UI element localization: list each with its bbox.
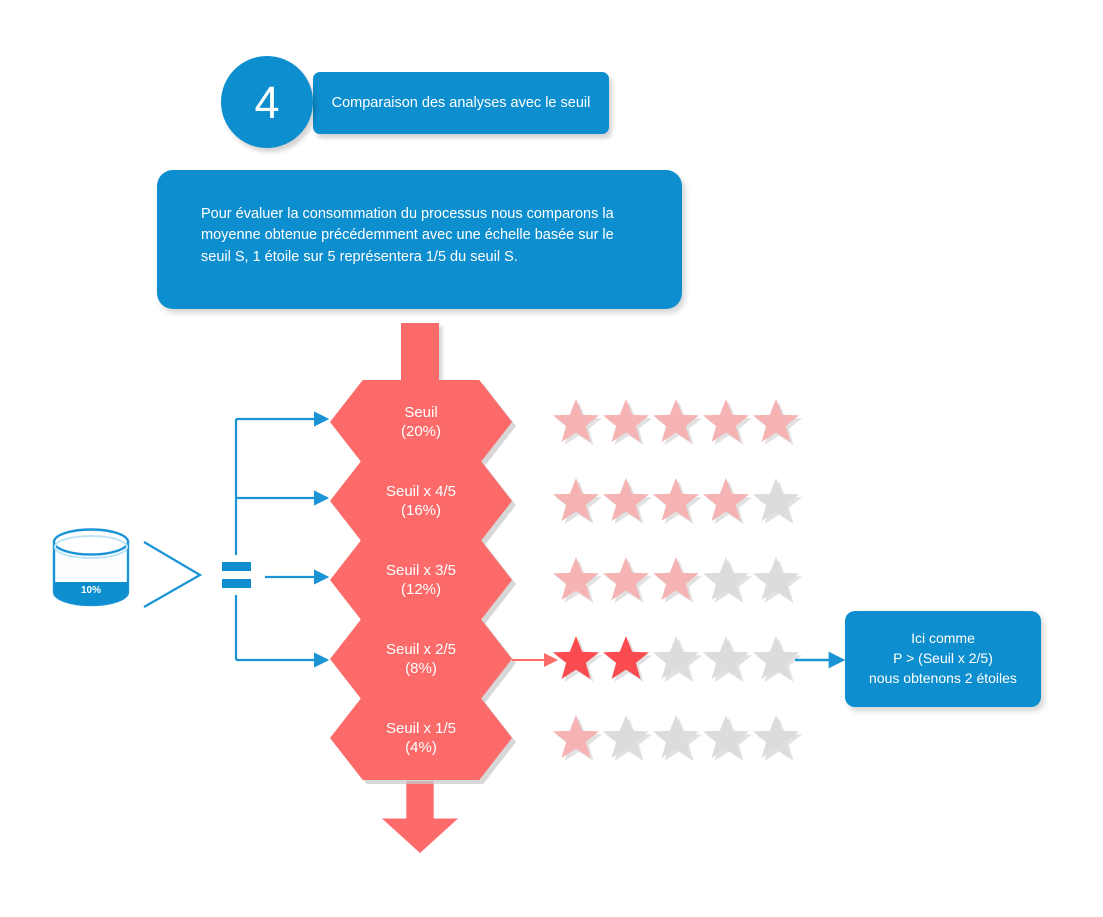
star-empty-icon bbox=[651, 634, 701, 682]
star-filled-icon bbox=[701, 476, 751, 524]
description-text: Pour évaluer la consommation du processu… bbox=[201, 206, 614, 265]
star-row-level-1 bbox=[551, 397, 801, 445]
star-empty-icon bbox=[701, 555, 751, 603]
funnel-level-label: Seuil x 2/5 bbox=[386, 640, 456, 660]
funnel-level-value: (8%) bbox=[405, 659, 437, 679]
star-filled-icon bbox=[601, 476, 651, 524]
funnel-top-stem bbox=[401, 323, 439, 385]
callout-line-3: nous obtenons 2 étoiles bbox=[853, 669, 1033, 689]
result-callout-box: Ici comme P > (Seuil x 2/5) nous obtenon… bbox=[845, 611, 1041, 707]
funnel-bottom-arrow bbox=[382, 781, 458, 853]
star-empty-icon bbox=[751, 555, 801, 603]
equals-sign-bar-bottom bbox=[222, 579, 251, 588]
star-filled-icon bbox=[601, 397, 651, 445]
star-filled-icon bbox=[551, 634, 601, 682]
funnel-level-label: Seuil x 3/5 bbox=[386, 561, 456, 581]
star-row-level-2 bbox=[551, 476, 801, 524]
star-filled-icon bbox=[551, 555, 601, 603]
star-empty-icon bbox=[701, 634, 751, 682]
star-empty-icon bbox=[651, 713, 701, 761]
funnel-level-label: Seuil x 1/5 bbox=[386, 719, 456, 739]
star-filled-icon bbox=[651, 397, 701, 445]
callout-line-2: P > (Seuil x 2/5) bbox=[853, 649, 1033, 669]
star-filled-icon bbox=[551, 397, 601, 445]
step-title-text: Comparaison des analyses avec le seuil bbox=[332, 94, 591, 112]
star-empty-icon bbox=[701, 713, 751, 761]
funnel-level-3[interactable]: Seuil x 3/5(12%) bbox=[330, 538, 512, 622]
star-filled-icon bbox=[551, 713, 601, 761]
star-filled-icon bbox=[601, 555, 651, 603]
funnel-level-4[interactable]: Seuil x 2/5(8%) bbox=[330, 617, 512, 701]
star-filled-icon bbox=[601, 634, 651, 682]
cylinder-value-label: 10% bbox=[50, 585, 132, 596]
callout-line-1: Ici comme bbox=[853, 629, 1033, 649]
funnel-level-5[interactable]: Seuil x 1/5(4%) bbox=[330, 696, 512, 780]
star-empty-icon bbox=[751, 713, 801, 761]
star-empty-icon bbox=[751, 634, 801, 682]
highlight-connectors bbox=[0, 0, 1103, 917]
star-filled-icon bbox=[651, 476, 701, 524]
star-filled-icon bbox=[551, 476, 601, 524]
connector-lines bbox=[0, 0, 1103, 917]
star-row-level-3 bbox=[551, 555, 801, 603]
funnel-level-value: (4%) bbox=[405, 738, 437, 758]
funnel-level-label: Seuil x 4/5 bbox=[386, 482, 456, 502]
star-filled-icon bbox=[701, 397, 751, 445]
step-number-badge: 4 bbox=[221, 56, 313, 148]
funnel-level-value: (12%) bbox=[401, 580, 441, 600]
funnel-level-value: (20%) bbox=[401, 422, 441, 442]
step-number-text: 4 bbox=[254, 80, 279, 125]
description-box: Pour évaluer la consommation du processu… bbox=[157, 170, 682, 309]
funnel-level-1[interactable]: Seuil(20%) bbox=[330, 380, 512, 464]
step-title-banner: Comparaison des analyses avec le seuil bbox=[313, 72, 609, 134]
star-filled-icon bbox=[651, 555, 701, 603]
star-empty-icon bbox=[601, 713, 651, 761]
funnel-level-value: (16%) bbox=[401, 501, 441, 521]
star-empty-icon bbox=[751, 476, 801, 524]
star-filled-icon bbox=[751, 397, 801, 445]
equals-sign-bar-top bbox=[222, 562, 251, 571]
funnel-level-2[interactable]: Seuil x 4/5(16%) bbox=[330, 459, 512, 543]
star-row-level-4 bbox=[551, 634, 801, 682]
funnel-level-label: Seuil bbox=[404, 403, 437, 423]
diagram-canvas: 4 Comparaison des analyses avec le seuil… bbox=[0, 0, 1103, 917]
star-row-level-5 bbox=[551, 713, 801, 761]
data-cylinder: 10% bbox=[50, 528, 132, 617]
